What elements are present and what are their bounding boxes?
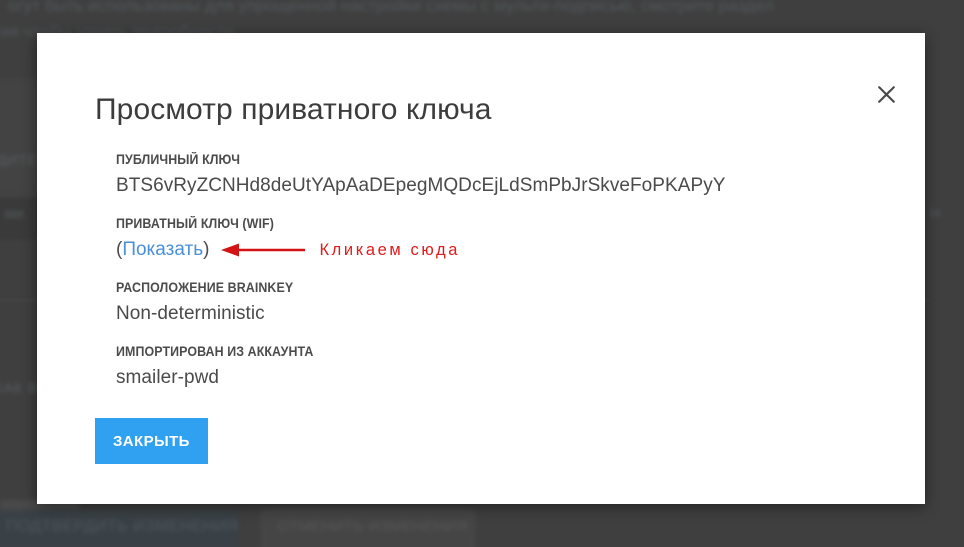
- private-key-dialog: Просмотр приватного ключа ПУБЛИЧНЫЙ КЛЮЧ…: [37, 33, 925, 504]
- background-side-label: ДИТЕ: [0, 152, 38, 169]
- show-private-key-link[interactable]: Показать: [122, 238, 203, 263]
- field-value-brainkey-location: Non-deterministic: [116, 302, 885, 327]
- field-label-public-key: ПУБЛИЧНЫЙ КЛЮЧ: [116, 152, 823, 169]
- field-public-key: ПУБЛИЧНЫЙ КЛЮЧ BTS6vRyZCNHd8deUtYApAaDEp…: [116, 152, 885, 199]
- field-imported-from-account: ИМПОРТИРОВАН ИЗ АККАУНТА smailer-pwd: [116, 344, 885, 391]
- field-private-key-wif: ПРИВАТНЫЙ КЛЮЧ (WIF) (Показать) Кликаем …: [116, 216, 885, 264]
- field-brainkey-location: РАСПОЛОЖЕНИЕ BRAINKEY Non-deterministic: [116, 280, 885, 327]
- private-key-reveal-row: (Показать) Кликаем сюда: [116, 237, 885, 263]
- field-label-brainkey-location: РАСПОЛОЖЕНИЕ BRAINKEY: [116, 280, 823, 297]
- key-details-list: ПУБЛИЧНЫЙ КЛЮЧ BTS6vRyZCNHd8deUtYApAaDEp…: [116, 152, 885, 391]
- background-confirm-button-label: ПОДТВЕРДИТЬ ИЗМЕНЕНИЯ: [6, 518, 239, 536]
- field-label-imported-from-account: ИМПОРТИРОВАН ИЗ АККАУНТА: [116, 344, 823, 361]
- close-dialog-button[interactable]: ЗАКРЫТЬ: [95, 418, 208, 464]
- background-cancel-button-label: ОТМЕНИТЬ ИЗМЕНЕНИЯ: [277, 518, 468, 535]
- background-field-text-right: Н: [930, 205, 940, 221]
- field-label-private-key-wif: ПРИВАТНЫЙ КЛЮЧ (WIF): [116, 216, 823, 233]
- background-text-line-1: огут быть использованы для упрощенной на…: [8, 0, 774, 16]
- field-value-public-key: BTS6vRyZCNHd8deUtYApAaDEpegMQDcEjLdSmPbJ…: [116, 174, 885, 199]
- annotation-callout: Кликаем сюда: [221, 240, 460, 261]
- close-icon[interactable]: [869, 77, 903, 111]
- background-label-two: КАК В: [0, 380, 38, 397]
- background-field-text: акк: [4, 205, 24, 221]
- field-value-imported-from-account: smailer-pwd: [116, 366, 885, 391]
- page-title: Просмотр приватного ключа: [95, 92, 492, 128]
- paren-close: ): [203, 238, 209, 263]
- annotation-text: Кликаем сюда: [319, 240, 460, 261]
- arrow-left-icon: [221, 242, 305, 258]
